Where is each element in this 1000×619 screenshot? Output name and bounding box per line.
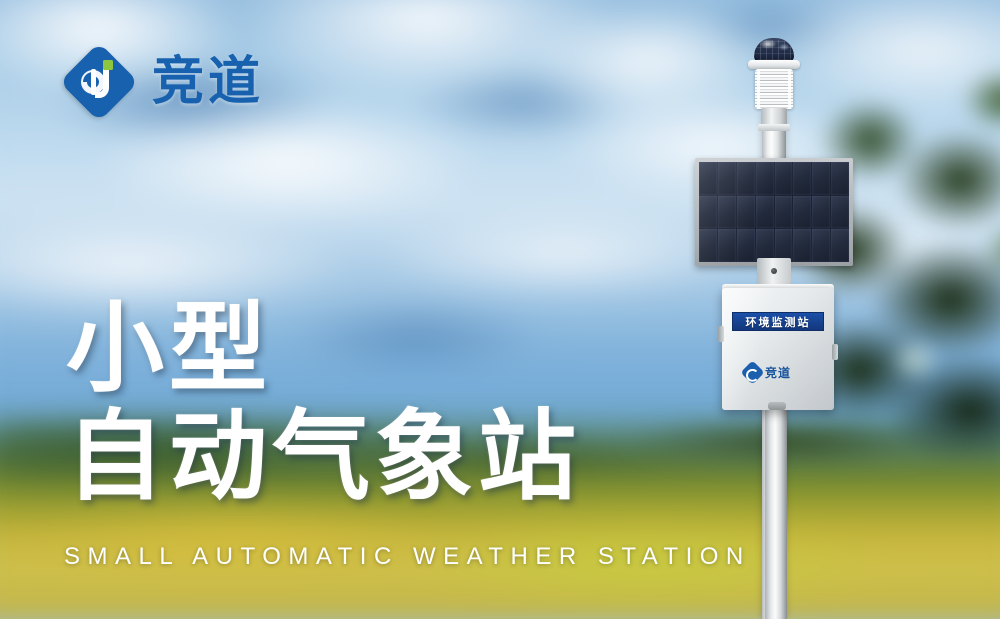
solar-panel-cells — [699, 162, 849, 262]
sensor-collar — [758, 124, 790, 131]
solar-cell — [737, 229, 755, 262]
sensor-cap — [748, 60, 800, 69]
brand-logo: 竞道 — [63, 46, 264, 118]
ultrasonic-weather-sensor — [746, 38, 802, 124]
page-title: 小型 自动气象站 — [66, 296, 581, 510]
solar-cell — [831, 196, 849, 229]
headline-line-1: 小型 — [66, 296, 581, 402]
solar-cell — [793, 229, 811, 262]
jingdao-logo-icon — [740, 360, 764, 384]
solar-cell — [831, 162, 849, 195]
sensor-dome-facets — [754, 40, 794, 60]
solar-cell — [793, 196, 811, 229]
solar-cell — [831, 229, 849, 262]
radiation-shield-posts — [757, 69, 791, 109]
solar-panel — [695, 158, 853, 266]
solar-cell — [793, 162, 811, 195]
control-box-brand-logo: 竞道 — [744, 362, 814, 382]
solar-cell — [737, 162, 755, 195]
solar-cell — [699, 229, 717, 262]
solar-cell — [699, 196, 717, 229]
control-box-sheen — [722, 288, 834, 410]
solar-cell — [775, 196, 793, 229]
weather-station-promo-banner: 环境监测站 竞道 竞道 小型 自动气象站 SMALL AUTOMATIC — [0, 0, 1000, 619]
control-box-banner: 环境监测站 — [732, 312, 824, 331]
jingdao-diamond-logo-icon — [63, 46, 135, 118]
control-box-hinge-left — [718, 326, 724, 342]
environment-monitoring-box: 环境监测站 竞道 — [722, 288, 834, 410]
solar-cell — [737, 196, 755, 229]
brand-name: 竞道 — [152, 56, 264, 108]
solar-cell — [718, 196, 736, 229]
solar-panel-bracket — [757, 258, 791, 284]
control-box-banner-label: 环境监测站 — [746, 314, 811, 330]
solar-cell — [718, 162, 736, 195]
control-box-brand-name: 竞道 — [765, 364, 791, 381]
headline-line-2: 自动气象站 — [66, 404, 581, 510]
bracket-bolt-icon — [771, 268, 777, 274]
solar-cell — [812, 229, 830, 262]
page-subtitle: SMALL AUTOMATIC WEATHER STATION — [64, 543, 751, 571]
control-box-hinge-right — [832, 344, 838, 360]
solar-cell — [775, 162, 793, 195]
solar-cell — [699, 162, 717, 195]
solar-cell — [756, 162, 774, 195]
control-box-vent — [768, 402, 786, 410]
solar-cell — [812, 196, 830, 229]
logo-glyph-icon — [63, 46, 135, 118]
solar-cell — [812, 162, 830, 195]
mounting-pole-lower — [765, 400, 787, 619]
solar-cell — [718, 229, 736, 262]
solar-cell — [756, 196, 774, 229]
